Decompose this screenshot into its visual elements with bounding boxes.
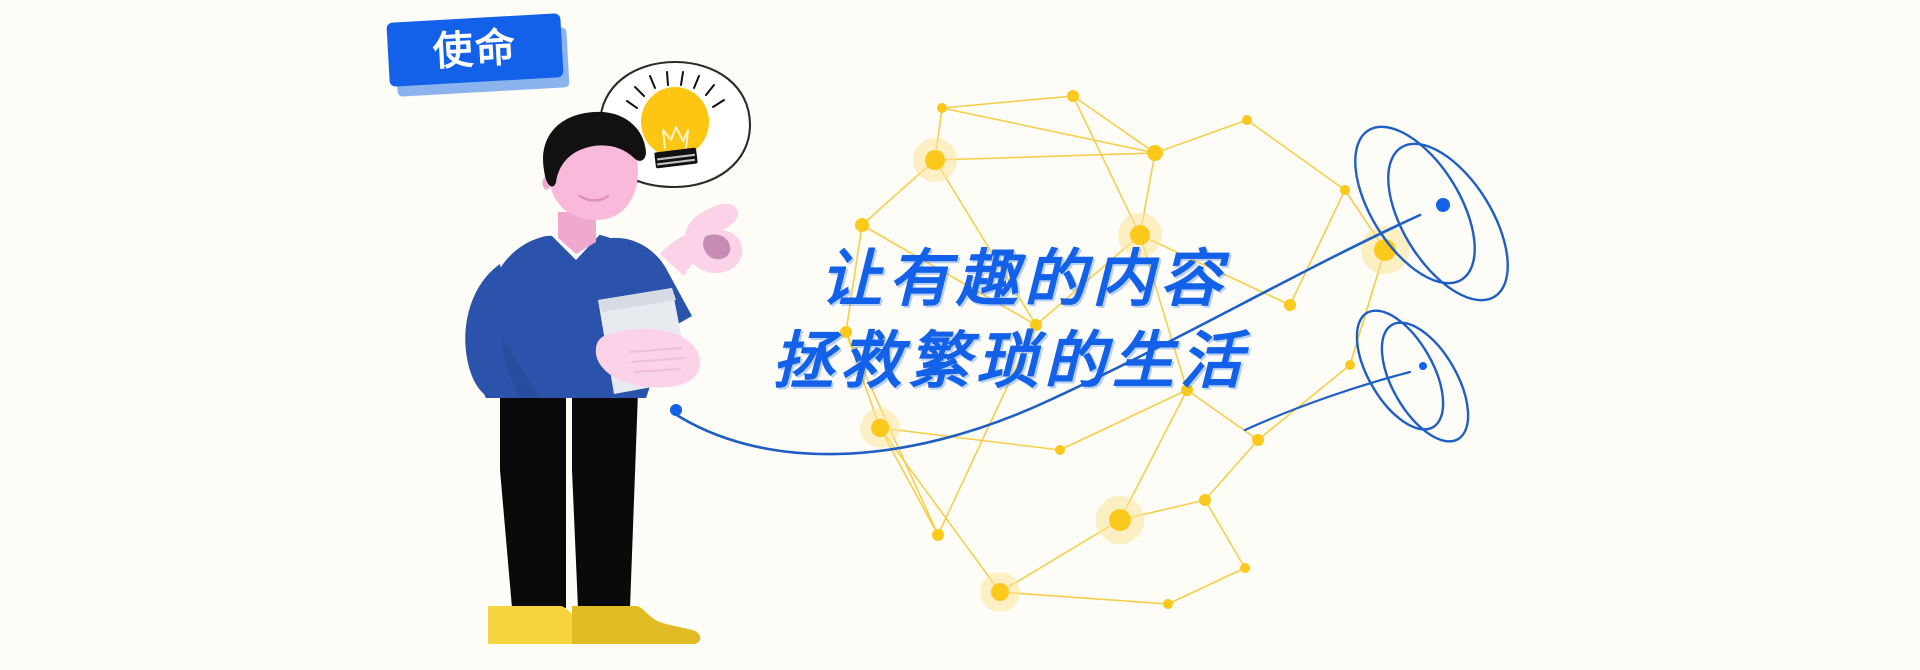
shoe-right (572, 606, 700, 644)
headline-line-1: 让有趣的内容 (820, 238, 1540, 320)
headline-line-2: 拯救繁琐的生活 (772, 320, 1540, 402)
trouser-left (500, 392, 566, 608)
trouser-right (572, 392, 638, 608)
headline-block: 让有趣的内容 拯救繁琐的生活 (820, 238, 1540, 402)
mission-banner: 使命 (0, 0, 1920, 670)
